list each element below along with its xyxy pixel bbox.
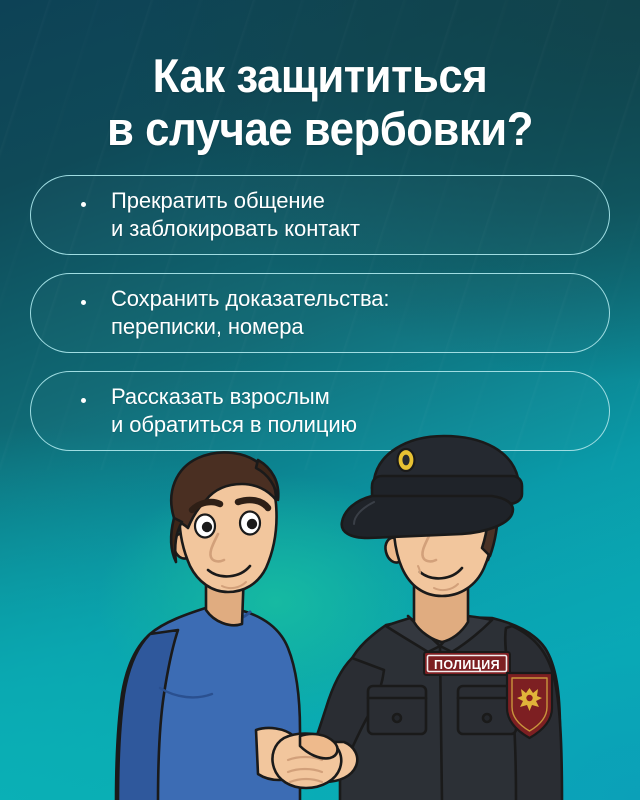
advice-item-1: Прекратить общение и заблокировать конта… [30,175,610,255]
boy-eye-left [195,515,215,538]
advice-item-2-text: Сохранить доказательства: переписки, ном… [111,285,389,341]
officer-pocket-left [368,686,426,734]
advice-item-1-line-1: Прекратить общение [111,187,360,215]
page-title: Как защититься в случае вербовки? [22,49,617,155]
bullet-dot-icon [81,202,86,207]
advice-item-2-line-2: переписки, номера [111,313,389,341]
illustration-handshake: ПОЛИЦИЯ [0,430,640,800]
advice-item-1-line-2: и заблокировать контакт [111,215,360,243]
advice-item-1-text: Прекратить общение и заблокировать конта… [111,187,360,243]
officer-pocket-left-button [393,714,401,722]
advice-item-2: Сохранить доказательства: переписки, ном… [30,273,610,353]
teen-boy [116,452,341,800]
police-cap [342,436,522,538]
officer-pocket-right-button [483,714,491,722]
boy-eye-right [240,512,260,535]
bullet-dot-icon [81,398,86,403]
page-title-line-2: в случае вербовки? [22,102,617,155]
poster: Как защититься в случае вербовки? Прекра… [0,0,640,800]
advice-item-3-line-1: Рассказать взрослым [111,383,357,411]
bullet-dot-icon [81,300,86,305]
page-title-line-1: Как защититься [153,49,488,102]
police-name-tape-text: ПОЛИЦИЯ [434,658,500,672]
police-name-tape: ПОЛИЦИЯ [424,652,510,675]
advice-item-2-line-1: Сохранить доказательства: [111,285,389,313]
